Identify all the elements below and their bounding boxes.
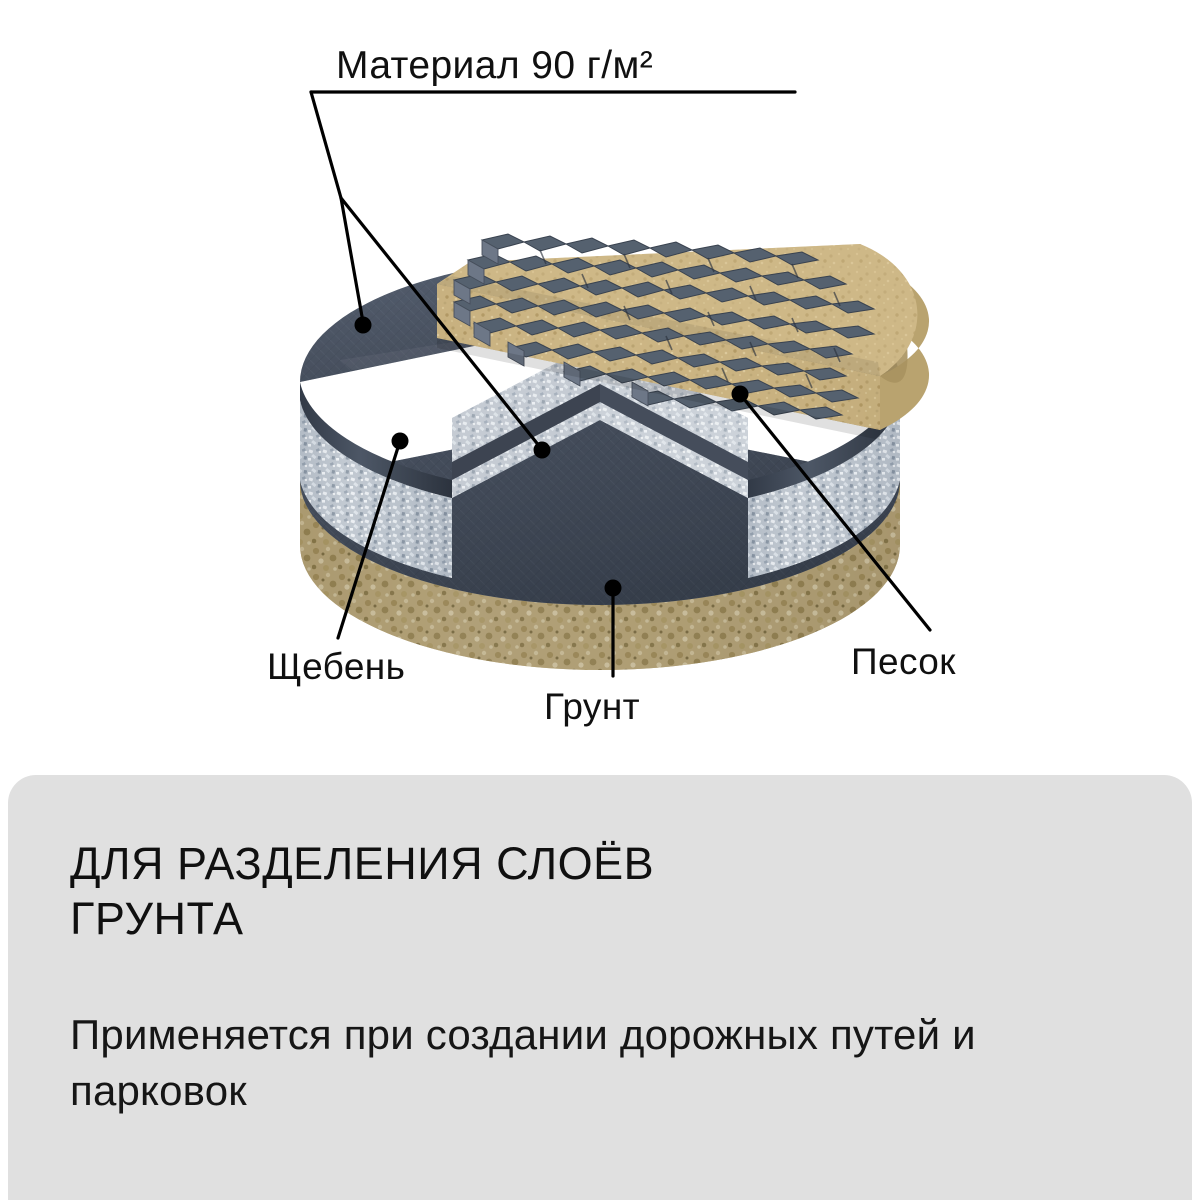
- info-panel-heading: ДЛЯ РАЗДЕЛЕНИЯ СЛОЁВ ГРУНТА: [70, 837, 770, 947]
- dot-geotextile-upper: [355, 317, 372, 334]
- label-soil: Грунт: [544, 686, 640, 728]
- label-crushed-stone: Щебень: [267, 646, 405, 688]
- layer-cake-diagram: [0, 0, 1200, 775]
- label-material-90: Материал 90 г/м²: [336, 44, 653, 88]
- leader-title-drop: [311, 92, 341, 198]
- dot-sand: [732, 386, 749, 403]
- illustration-area: Материал 90 г/м² Щебень Грунт Песок: [0, 0, 1200, 775]
- label-sand: Песок: [851, 641, 956, 683]
- leader-geotextile-upper: [341, 198, 363, 322]
- info-panel-body: Применяется при создании дорожных путей …: [70, 947, 1000, 1120]
- dot-crushed-stone: [392, 433, 409, 450]
- info-panel: ДЛЯ РАЗДЕЛЕНИЯ СЛОЁВ ГРУНТА Применяется …: [8, 775, 1192, 1200]
- dot-soil: [605, 580, 622, 597]
- dot-geotextile-lower: [534, 442, 551, 459]
